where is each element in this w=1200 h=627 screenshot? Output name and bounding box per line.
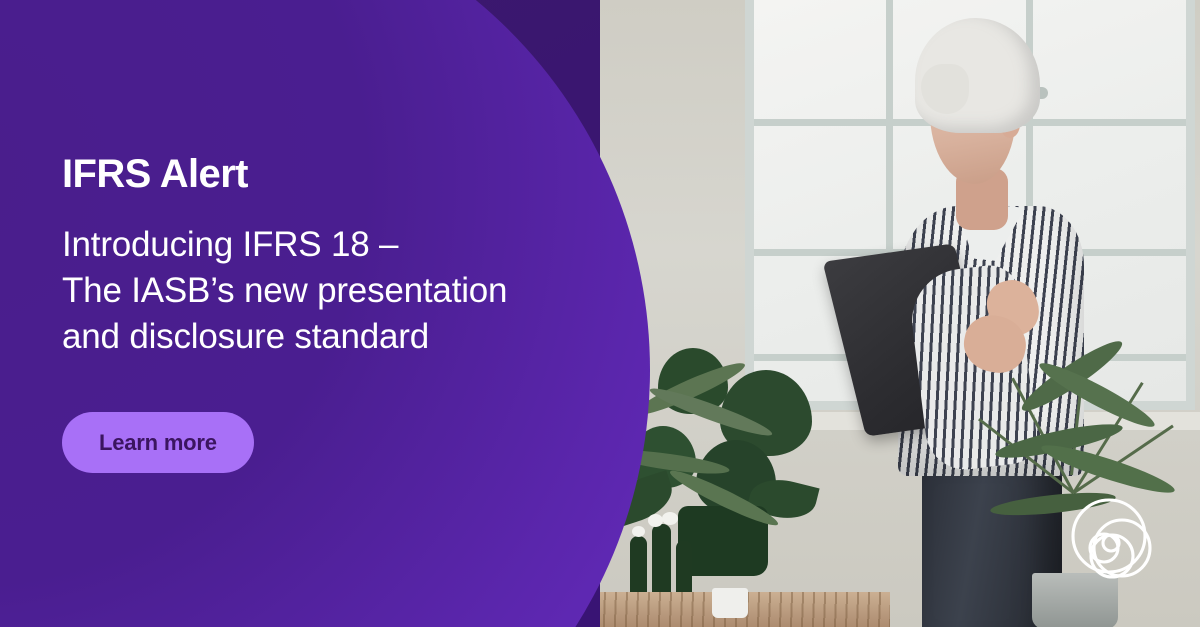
learn-more-button[interactable]: Learn more bbox=[62, 412, 254, 473]
spiral-logo-icon bbox=[1062, 492, 1167, 597]
headline-line-3: and disclosure standard bbox=[62, 317, 429, 356]
grant-thornton-spiral-logo bbox=[1062, 492, 1167, 597]
headline-line-2: The IASB’s new presentation bbox=[62, 271, 507, 310]
banner-content: IFRS Alert Introducing IFRS 18 – The IAS… bbox=[62, 0, 592, 627]
page-title: IFRS Alert bbox=[62, 152, 248, 197]
ifrs-alert-banner: IFRS Alert Introducing IFRS 18 – The IAS… bbox=[0, 0, 1200, 627]
headline: Introducing IFRS 18 – The IASB’s new pre… bbox=[62, 222, 582, 360]
headline-line-1: Introducing IFRS 18 – bbox=[62, 225, 398, 264]
